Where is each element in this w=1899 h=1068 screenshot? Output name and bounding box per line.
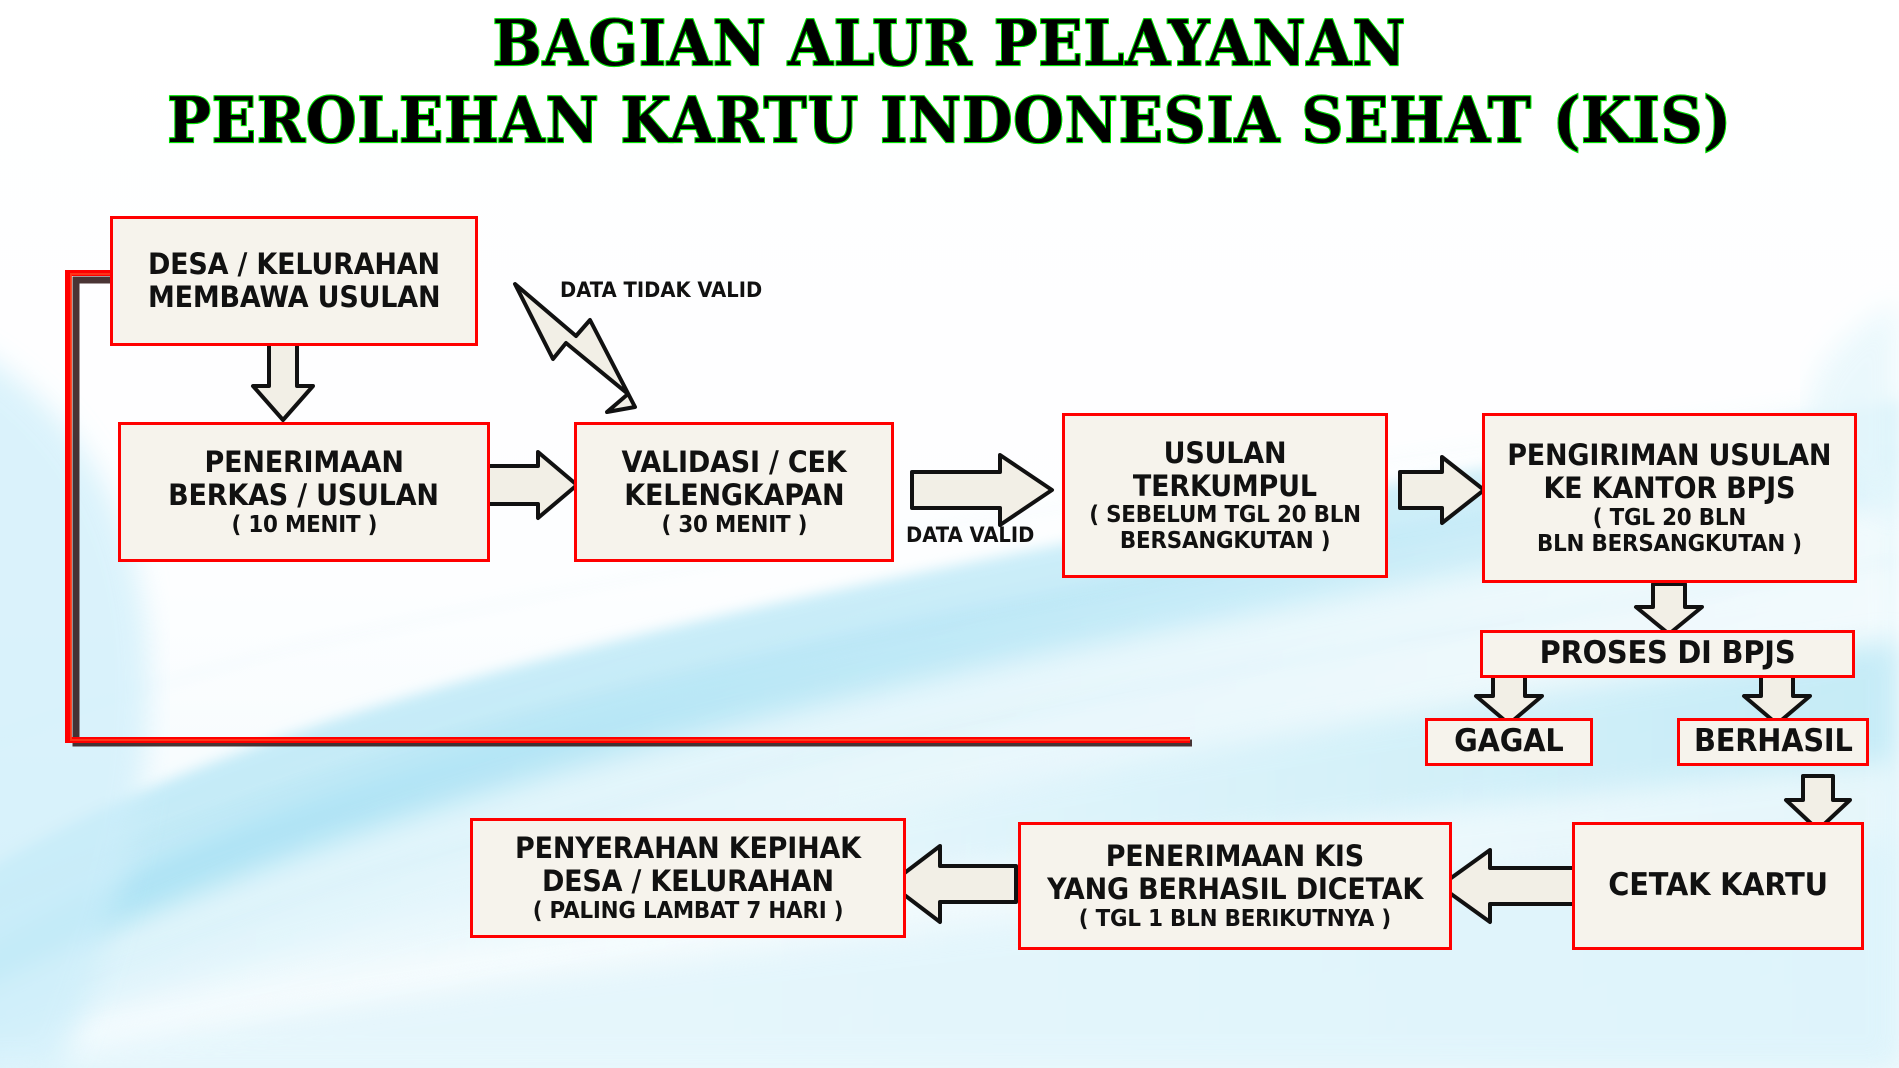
node-line: PENERIMAAN bbox=[204, 446, 403, 479]
arrow-validasi-to-desa bbox=[515, 284, 635, 412]
edge-label-data-tidak-valid: DATA TIDAK VALID bbox=[560, 278, 762, 302]
node-line: BLN BERSANGKUTAN ) bbox=[1537, 531, 1802, 557]
page-title-line-2: PEROLEHAN KARTU INDONESIA SEHAT (KIS) bbox=[76, 85, 1823, 156]
node-line: USULAN bbox=[1164, 437, 1287, 470]
node-line: VALIDASI / CEK bbox=[621, 446, 846, 479]
node-validasi-cek[interactable]: VALIDASI / CEK KELENGKAPAN ( 30 MENIT ) bbox=[574, 422, 894, 562]
page-title: BAGIAN ALUR PELAYANAN PEROLEHAN KARTU IN… bbox=[0, 8, 1899, 155]
node-line: KELENGKAPAN bbox=[624, 479, 844, 512]
node-line: GAGAL bbox=[1454, 724, 1563, 759]
node-line: BERSANGKUTAN ) bbox=[1120, 528, 1330, 554]
node-penyerahan-kepihak-desa[interactable]: PENYERAHAN KEPIHAK DESA / KELURAHAN ( PA… bbox=[470, 818, 906, 938]
node-line: KE KANTOR BPJS bbox=[1544, 472, 1796, 505]
node-line: PROSES DI BPJS bbox=[1540, 636, 1796, 671]
node-line: ( 30 MENIT ) bbox=[661, 512, 807, 538]
node-line: ( 10 MENIT ) bbox=[231, 512, 377, 538]
arrow-penerimaan-kis-to-penyerahan bbox=[890, 846, 1016, 922]
node-berhasil[interactable]: BERHASIL bbox=[1677, 718, 1869, 766]
arrow-desa-to-penerimaan bbox=[253, 343, 313, 420]
node-line: CETAK KARTU bbox=[1608, 868, 1828, 903]
page-title-line-1: BAGIAN ALUR PELAYANAN bbox=[76, 8, 1823, 79]
arrow-proses-to-gagal bbox=[1476, 675, 1542, 724]
node-line: ( TGL 20 BLN bbox=[1593, 505, 1746, 531]
arrow-cetak-to-penerimaan-kis bbox=[1440, 850, 1574, 922]
node-pengiriman-usulan[interactable]: PENGIRIMAN USULAN KE KANTOR BPJS ( TGL 2… bbox=[1482, 413, 1857, 583]
node-line: ( SEBELUM TGL 20 BLN bbox=[1089, 502, 1361, 528]
node-desa-kelurahan[interactable]: DESA / KELURAHAN MEMBAWA USULAN bbox=[110, 216, 478, 346]
arrow-validasi-to-usulan bbox=[912, 455, 1052, 525]
node-penerimaan-kis[interactable]: PENERIMAAN KIS YANG BERHASIL DICETAK ( T… bbox=[1018, 822, 1452, 950]
arrow-usulan-to-pengiriman bbox=[1400, 457, 1484, 523]
node-line: PENGIRIMAN USULAN bbox=[1507, 439, 1831, 472]
node-line: BERHASIL bbox=[1694, 724, 1853, 759]
node-line: ( PALING LAMBAT 7 HARI ) bbox=[533, 898, 844, 924]
flowchart-page: BAGIAN ALUR PELAYANAN PEROLEHAN KARTU IN… bbox=[0, 0, 1899, 1068]
node-line: ( TGL 1 BLN BERIKUTNYA ) bbox=[1079, 906, 1391, 932]
node-line: TERKUMPUL bbox=[1133, 470, 1317, 503]
node-line: YANG BERHASIL DICETAK bbox=[1047, 873, 1423, 906]
node-line: PENYERAHAN KEPIHAK bbox=[515, 832, 861, 865]
node-usulan-terkumpul[interactable]: USULAN TERKUMPUL ( SEBELUM TGL 20 BLN BE… bbox=[1062, 413, 1388, 578]
node-gagal[interactable]: GAGAL bbox=[1425, 718, 1593, 766]
node-proses-di-bpjs[interactable]: PROSES DI BPJS bbox=[1480, 630, 1855, 678]
edge-label-data-valid: DATA VALID bbox=[906, 523, 1034, 547]
node-line: DESA / KELURAHAN bbox=[542, 865, 834, 898]
node-line: BERKAS / USULAN bbox=[169, 479, 440, 512]
arrow-pengiriman-to-proses bbox=[1636, 584, 1702, 634]
arrow-penerimaan-to-validasi bbox=[488, 452, 577, 518]
node-cetak-kartu[interactable]: CETAK KARTU bbox=[1572, 822, 1864, 950]
node-line: PENERIMAAN KIS bbox=[1106, 840, 1364, 873]
arrow-proses-to-berhasil bbox=[1744, 675, 1810, 724]
node-line: DESA / KELURAHAN bbox=[148, 248, 440, 281]
node-line: MEMBAWA USULAN bbox=[148, 281, 440, 314]
node-penerimaan-berkas[interactable]: PENERIMAAN BERKAS / USULAN ( 10 MENIT ) bbox=[118, 422, 490, 562]
